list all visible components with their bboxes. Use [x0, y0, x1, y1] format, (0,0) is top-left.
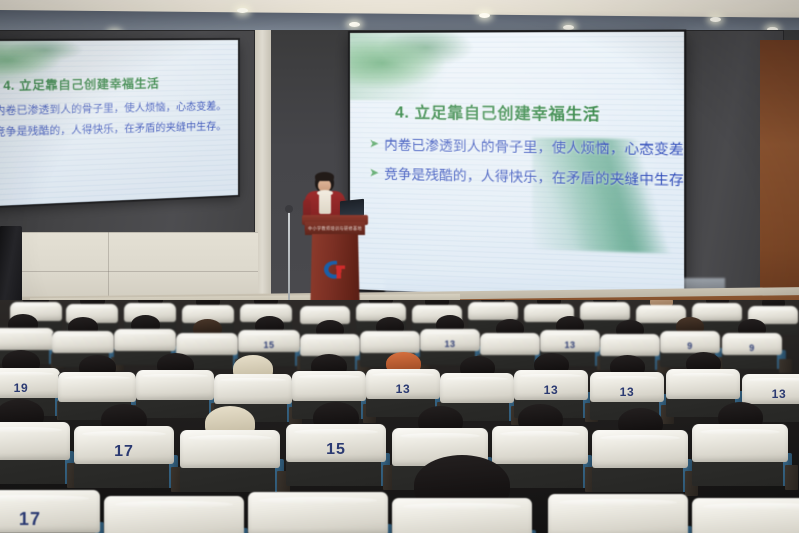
seat-number: 13	[540, 340, 600, 350]
seat-number: 13	[742, 387, 799, 401]
audience-seating: 151313991913131313171517	[0, 300, 799, 533]
seat-cover	[52, 331, 114, 353]
seat-cover	[492, 426, 588, 464]
side-projection-screen: 4. 立足靠自己创建幸福生活 内卷已渗透到人的骨子里，使人烦恼，心态变差。 竞争…	[0, 40, 238, 207]
downlight-icon	[479, 13, 490, 18]
seat-cover	[468, 302, 518, 320]
seat-armrest	[785, 465, 798, 490]
audience-seat	[104, 496, 244, 533]
audience-seat	[692, 424, 788, 486]
seat-cover	[548, 494, 688, 533]
seat-cover	[248, 492, 388, 533]
seat-armrest	[779, 359, 792, 373]
seat-cover	[292, 371, 366, 401]
audience-seat	[392, 498, 532, 533]
podium-name-band: 中小学教师培训与研修基地	[305, 222, 365, 235]
main-slide-bullet-text: 内卷已渗透到人的骨子里，使人烦恼，心态变差。	[384, 133, 684, 158]
seat-cover	[300, 334, 360, 356]
bullet-arrow-icon: ➤	[369, 136, 379, 150]
audience-seat: 17	[0, 490, 100, 533]
presenter-scarf	[319, 191, 331, 214]
presenter-hair	[315, 172, 334, 181]
seat-cover	[480, 333, 540, 355]
audience-seat	[692, 498, 799, 533]
audience-seat: 15	[286, 424, 386, 486]
downlight-icon	[349, 22, 360, 27]
seat-number: 13	[514, 383, 588, 397]
seat-number: 19	[0, 381, 60, 395]
seat-cover	[0, 328, 54, 350]
seat-cover	[136, 370, 214, 400]
audience-seat: 9	[722, 333, 782, 369]
seat-number: 17	[0, 509, 100, 530]
audience-seat	[136, 370, 214, 418]
institution-logo	[322, 259, 348, 281]
seat-cover	[114, 329, 176, 351]
seat-number: 13	[420, 339, 480, 349]
seat-cover	[214, 374, 292, 404]
audience-seat	[548, 494, 688, 533]
audience-seat	[180, 430, 280, 492]
seat-cover	[176, 333, 238, 355]
seat-cover	[392, 498, 532, 533]
lecture-hall-photo: 4. 立足靠自己创建幸福生活 内卷已渗透到人的骨子里，使人烦恼，心态变差。 竞争…	[0, 0, 799, 533]
audience-seat	[248, 492, 388, 533]
seat-number: 13	[590, 385, 664, 399]
seat-number: 15	[238, 340, 300, 350]
seat-number: 15	[286, 441, 386, 459]
seat-cover	[580, 302, 630, 320]
seat-number: 17	[74, 443, 174, 461]
main-slide-bullet: ➤ 竞争是残酷的，人得快乐，在矛盾的夹缝中生存。	[369, 162, 667, 189]
seat-cover	[360, 331, 420, 353]
seat-cover	[692, 498, 799, 533]
main-projection-screen: 4. 立足靠自己创建幸福生活 ➤ 内卷已渗透到人的骨子里，使人烦恼，心态变差。 …	[350, 32, 684, 303]
main-slide-title: 4. 立足靠自己创建幸福生活	[395, 100, 666, 125]
seat-cover	[592, 430, 688, 468]
seat-cover	[666, 369, 740, 399]
side-slide-bullet: 竞争是残酷的，人得快乐，在矛盾的夹缝中生存。	[0, 117, 228, 139]
downlight-icon	[237, 8, 248, 13]
side-slide-bullet: 内卷已渗透到人的骨子里，使人烦恼，心态变差。	[0, 97, 228, 117]
seat-cover	[600, 334, 660, 356]
main-slide-bullet-text: 竞争是残酷的，人得快乐，在矛盾的夹缝中生存。	[384, 162, 684, 189]
seat-number: 13	[366, 382, 440, 396]
microphone-icon	[285, 205, 293, 213]
audience-seat	[592, 430, 688, 492]
seat-number: 9	[660, 341, 720, 351]
bullet-arrow-icon: ➤	[369, 165, 379, 179]
seat-cover	[0, 422, 70, 460]
audience-seat: 17	[74, 426, 174, 488]
main-slide-bullet: ➤ 内卷已渗透到人的骨子里，使人烦恼，心态变差。	[369, 133, 667, 158]
side-slide-title: 4. 立足靠自己创建幸福生活	[3, 74, 228, 94]
seat-number: 9	[722, 343, 782, 353]
seat-cover	[58, 372, 136, 402]
seat-cover	[692, 424, 788, 462]
seat-cover	[180, 430, 280, 468]
seat-cover	[692, 303, 742, 321]
podium-band-text: 中小学教师培训与研修基地	[308, 225, 362, 232]
seat-cover	[440, 373, 514, 403]
seat-cover	[104, 496, 244, 533]
downlight-icon	[710, 17, 721, 22]
audience-seat	[0, 422, 70, 484]
